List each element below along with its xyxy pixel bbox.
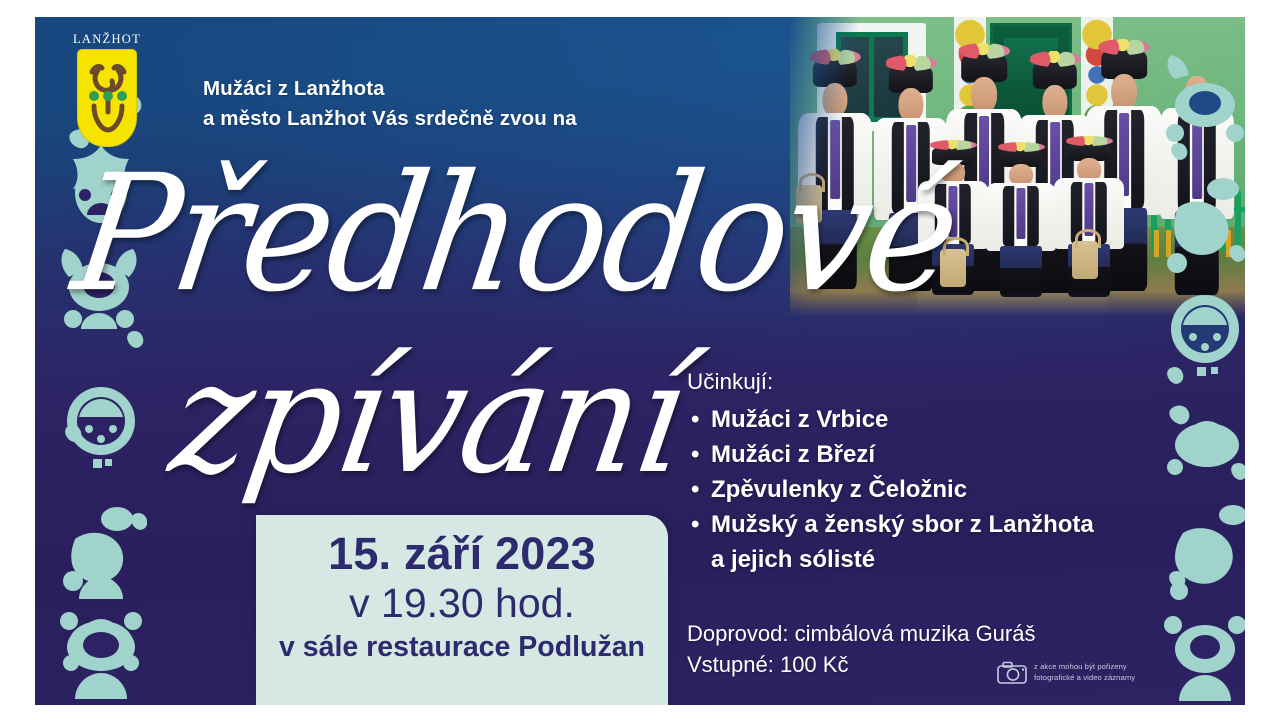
performers-section: Učinkují: Mužáci z Vrbice Mužáci z Březí… xyxy=(687,369,1207,577)
photo-person xyxy=(1160,49,1234,295)
photo-notice-text: z akce mohou být pořizeny fotografické a… xyxy=(1034,662,1135,684)
list-item: Mužský a ženský sbor z Lanžhota xyxy=(687,507,1207,542)
invitation-text: Mužáci z Lanžhota a město Lanžhot Vás sr… xyxy=(203,74,763,133)
photo-notice-line-2: fotografické a video záznamy xyxy=(1034,673,1135,684)
list-item: Mužáci z Vrbice xyxy=(687,402,1207,437)
photo-basket xyxy=(940,249,966,287)
camera-icon xyxy=(997,661,1027,684)
title-line-2: zpívání xyxy=(161,328,696,508)
event-venue: v sále restaurace Podlužan xyxy=(256,630,668,664)
photo-basket xyxy=(796,185,822,223)
performers-heading: Učinkují: xyxy=(687,369,1207,395)
poster-canvas: LANŽHOT Mužác xyxy=(0,0,1280,720)
event-poster: LANŽHOT Mužác xyxy=(35,17,1245,705)
accompaniment-text: Doprovod: cimbálová muzika Guráš xyxy=(687,618,1207,649)
invitation-line-2: a město Lanžhot Vás srdečně zvou na xyxy=(203,104,763,134)
photo-video-notice: z akce mohou být pořizeny fotografické a… xyxy=(997,661,1217,684)
crest-shield xyxy=(77,49,137,147)
event-time: v 19.30 hod. xyxy=(256,578,668,628)
town-coat-of-arms: LANŽHOT xyxy=(71,32,143,150)
group-photo xyxy=(790,17,1245,317)
event-details-panel: 15. září 2023 v 19.30 hod. v sále restau… xyxy=(256,515,668,705)
photo-basket xyxy=(1072,241,1098,279)
photo-notice-line-1: z akce mohou být pořizeny xyxy=(1034,662,1135,673)
list-item: a jejich sólisté xyxy=(687,542,1207,577)
event-date: 15. září 2023 xyxy=(256,529,668,579)
photo-person xyxy=(986,147,1056,297)
list-item: Mužáci z Březí xyxy=(687,437,1207,472)
invitation-line-1: Mužáci z Lanžhota xyxy=(203,74,763,104)
list-item: Zpěvulenky z Čeložnic xyxy=(687,472,1207,507)
crest-town-name: LANŽHOT xyxy=(71,32,143,47)
performers-list: Mužáci z Vrbice Mužáci z Březí Zpěvulenk… xyxy=(687,402,1207,577)
